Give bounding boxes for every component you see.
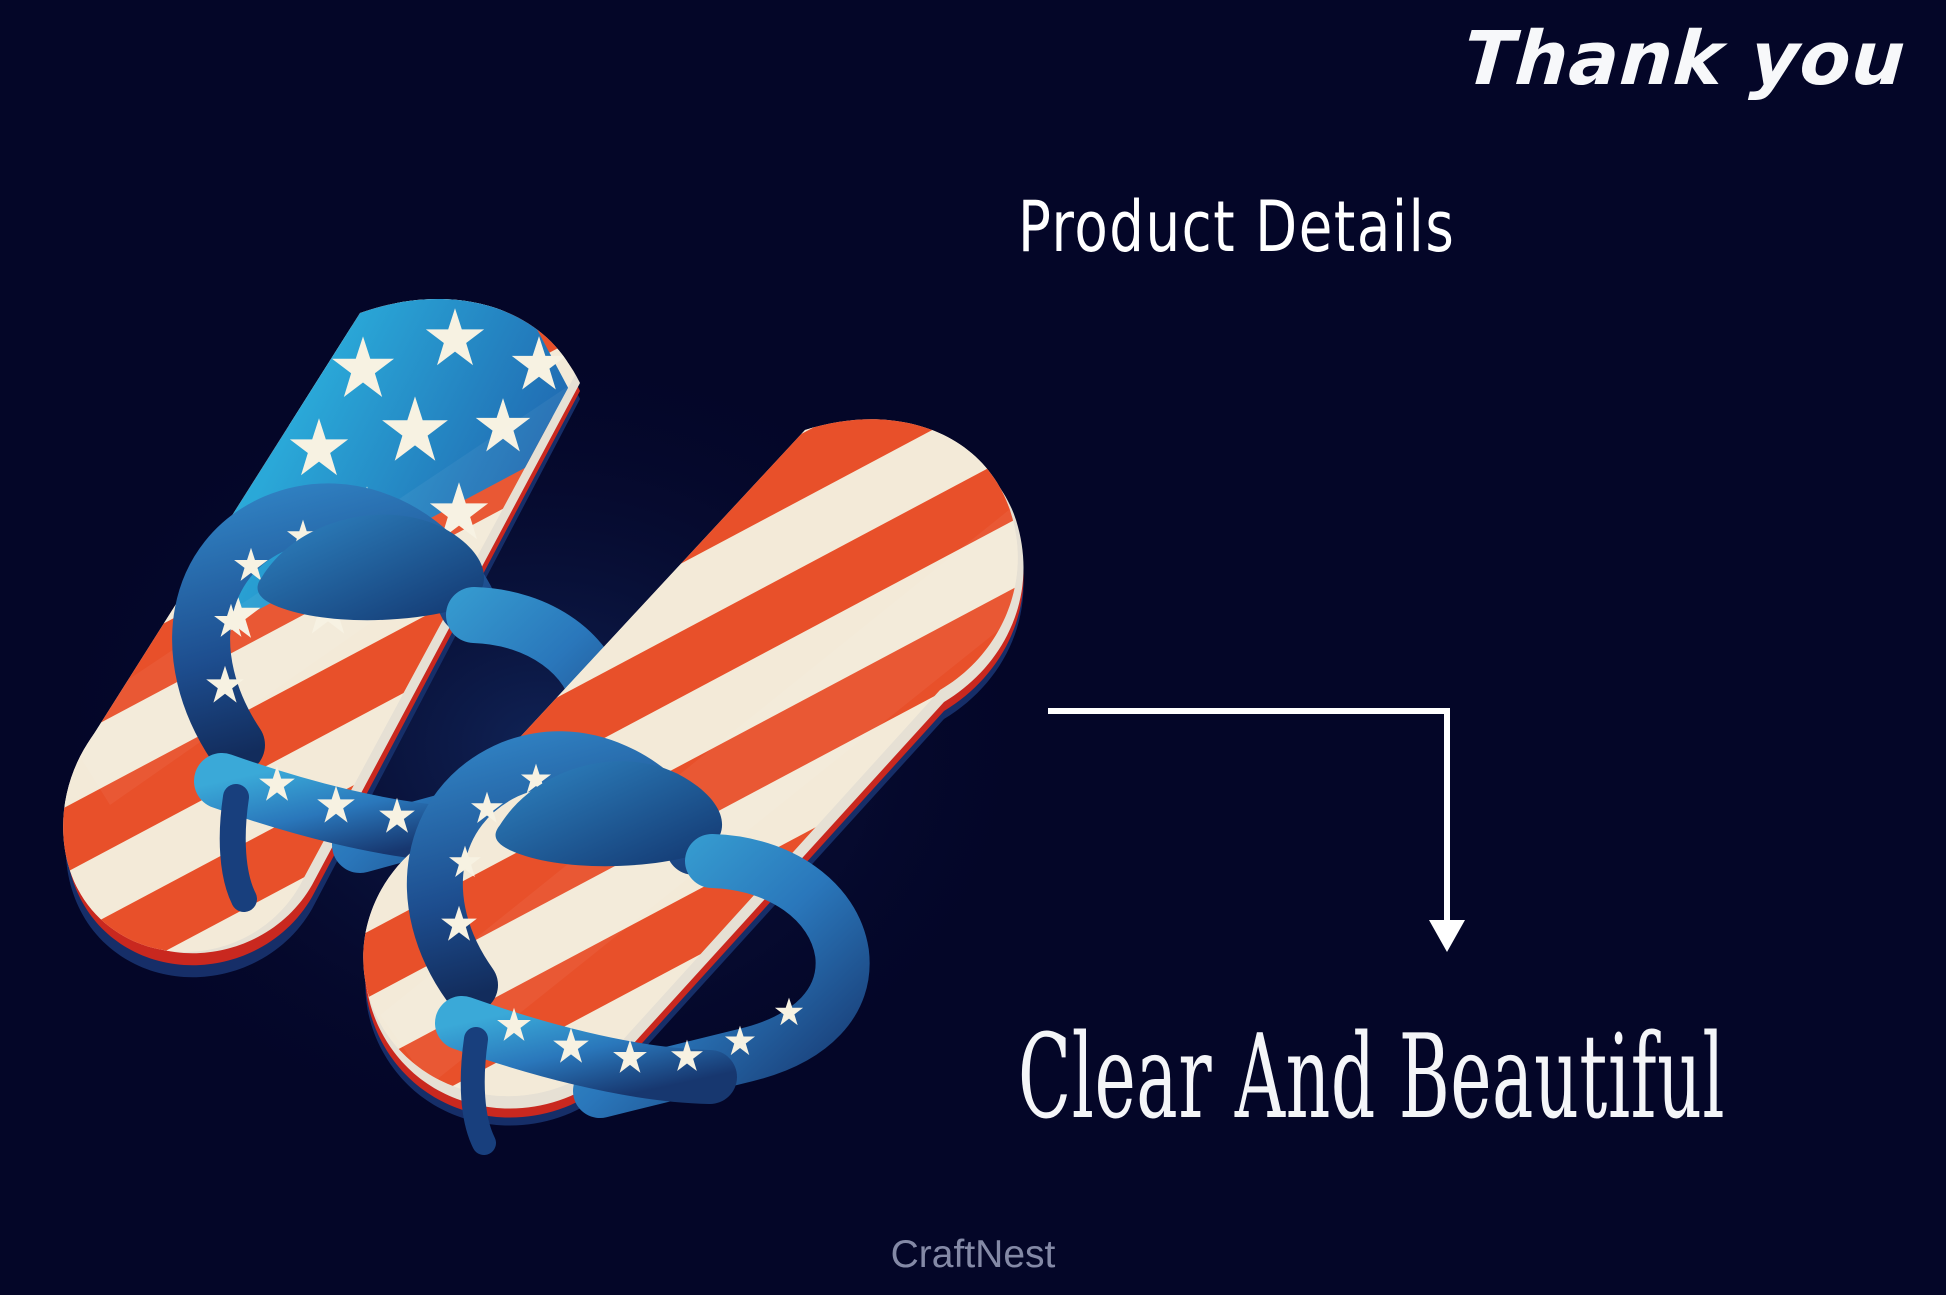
caption-text: Clear And Beautiful: [1018, 1010, 1725, 1145]
elbow-arrow-down-icon: [1030, 690, 1480, 970]
product-image: [0, 185, 1060, 1195]
thank-you-heading: Thank you: [1461, 16, 1909, 102]
page-title: Product Details: [1018, 186, 1455, 268]
watermark-label: CraftNest: [0, 1233, 1946, 1277]
poster-canvas: Thank you Product Details Clear And Beau…: [0, 0, 1946, 1295]
